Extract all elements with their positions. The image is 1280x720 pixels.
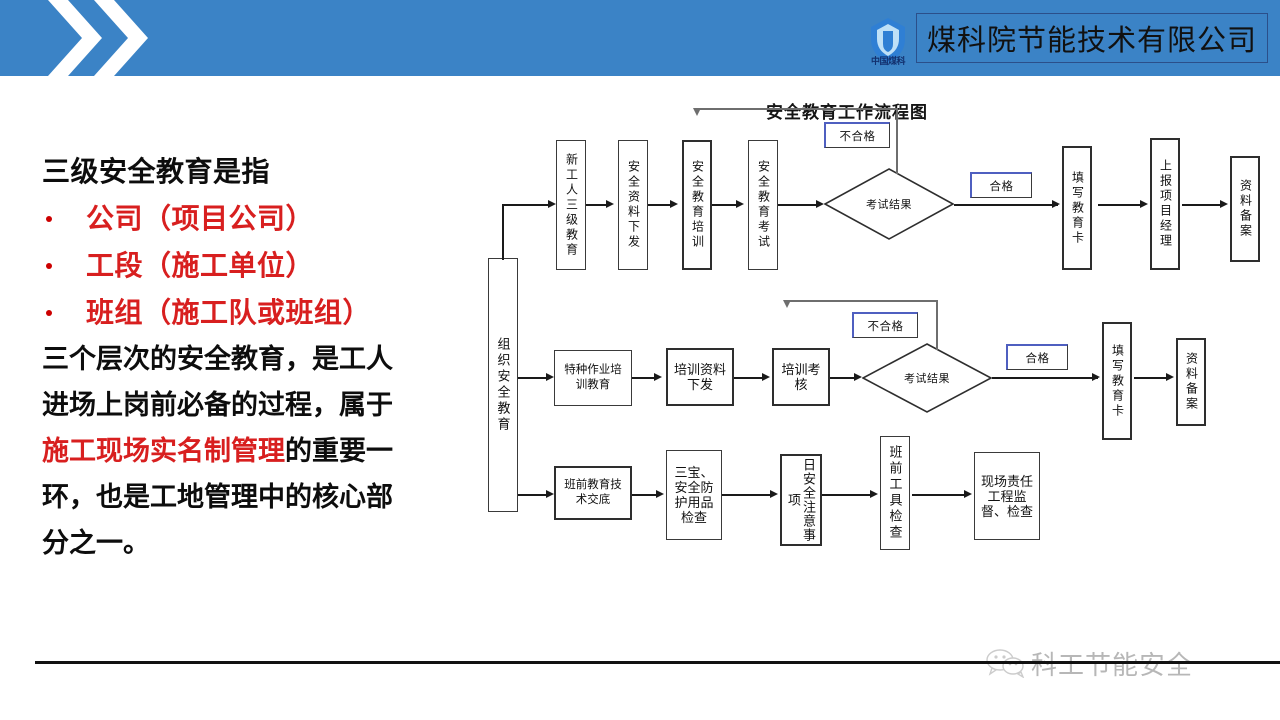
- connector-r1-pass: [954, 204, 1058, 206]
- arrow-r2-fail-down: [783, 300, 791, 308]
- connector-r1-5-6: [1098, 204, 1144, 206]
- list-item: 公司（项目公司）: [42, 195, 472, 242]
- arrow-r1-5-6: [1140, 200, 1148, 208]
- company-name: 煤科院节能技术有限公司: [927, 17, 1257, 59]
- flow-node-r3-5-label: 现场责任工程监督、检查: [981, 474, 1033, 519]
- connector-r3-3-4: [822, 494, 874, 496]
- flow-tag-r2-pass: 合格: [1006, 344, 1068, 370]
- flow-node-r2-3-label: 培训考核: [779, 362, 823, 392]
- arrow-r3-3-4: [870, 490, 878, 498]
- header-band: 中国煤科 煤科院节能技术有限公司: [0, 0, 1280, 76]
- bullet-label-1: 公司（项目公司）: [86, 195, 314, 242]
- flow-node-r1-2: 安全资料下发: [618, 140, 648, 270]
- flow-node-r3-4: 班前工具检查: [880, 436, 910, 550]
- arrow-root-to-row3: [546, 490, 554, 498]
- flow-decision-r2-label: 考试结果: [862, 343, 992, 413]
- connector-r1-6-7: [1182, 204, 1224, 206]
- flow-node-r3-1: 班前教育技术交底: [554, 466, 632, 520]
- connector-r1-fail-left: [696, 108, 898, 110]
- paragraph-text: 三个层次的安全教育，是工人: [42, 344, 393, 374]
- bullet-dot-icon: [46, 216, 52, 222]
- bullet-label-3: 班组（施工队或班组）: [86, 289, 371, 336]
- arrow-r2-4-5: [1166, 373, 1174, 381]
- flow-node-r1-4: 安全教育考试: [748, 140, 778, 270]
- flow-node-r1-3: 安全教育培训: [682, 140, 712, 270]
- connector-r2-fail-left: [786, 300, 938, 302]
- flow-node-r1-7: 资料备案: [1230, 156, 1260, 262]
- flow-decision-r1: 考试结果: [824, 168, 954, 240]
- arrow-r1-pass: [1052, 200, 1060, 208]
- paragraph-line-3: 施工现场实名制管理的重要一: [42, 428, 472, 474]
- arrow-root-to-row1: [548, 200, 556, 208]
- flow-tag-r1-fail: 不合格: [824, 122, 890, 148]
- flow-node-root: 组织安全教育: [488, 258, 518, 512]
- footer-divider: [35, 661, 1280, 664]
- paragraph-text: 分之一。: [42, 528, 150, 558]
- flow-node-r3-3-label: 日安全注意事项: [786, 456, 816, 544]
- flow-node-r1-6: 上报项目经理: [1150, 138, 1180, 270]
- list-item: 班组（施工队或班组）: [42, 289, 472, 336]
- left-heading: 三级安全教育是指: [42, 148, 472, 195]
- arrow-r3-1-2: [656, 490, 664, 498]
- arrow-r2-2-3: [762, 373, 770, 381]
- arrow-r1-3-4: [736, 200, 744, 208]
- arrow-root-to-row2: [546, 373, 554, 381]
- arrow-r1-6-7: [1220, 200, 1228, 208]
- logo-caption: 中国煤科: [856, 56, 920, 66]
- flow-node-r1-1: 新工人三级教育: [556, 140, 586, 270]
- flow-node-r2-1: 特种作业培训教育: [554, 350, 632, 406]
- flow-decision-r2: 考试结果: [862, 343, 992, 413]
- paragraph-highlight: 施工现场实名制管理: [42, 436, 285, 466]
- flow-node-r2-4: 填写教育卡: [1102, 322, 1132, 440]
- flow-tag-r1-pass: 合格: [970, 172, 1032, 198]
- paragraph-line-1: 三个层次的安全教育，是工人: [42, 336, 472, 382]
- bullet-dot-icon: [46, 310, 52, 316]
- arrow-r1-fail-down: [693, 108, 701, 116]
- connector-r1-fail-up: [896, 108, 898, 174]
- company-name-box: 煤科院节能技术有限公司: [916, 13, 1268, 63]
- paragraph-line-2: 进场上岗前必备的过程，属于: [42, 382, 472, 428]
- flow-node-r3-5: 现场责任工程监督、检查: [974, 452, 1040, 540]
- flow-node-r2-2: 培训资料下发: [666, 348, 734, 406]
- flow-node-r2-2-label: 培训资料下发: [673, 362, 727, 392]
- arrow-r1-4-decision: [816, 200, 824, 208]
- bullet-dot-icon: [46, 263, 52, 269]
- bullet-label-2: 工段（施工单位）: [86, 242, 314, 289]
- flow-node-r2-1-label: 特种作业培训教育: [562, 363, 624, 393]
- connector-r2-fail-up: [936, 300, 938, 350]
- connector-root-up: [502, 204, 504, 260]
- arrow-r1-1-2: [606, 200, 614, 208]
- flow-node-r3-1-label: 班前教育技术交底: [562, 478, 624, 508]
- flowchart-title: 安全教育工作流程图: [766, 98, 928, 123]
- arrow-r2-1-2: [654, 373, 662, 381]
- double-chevron-right-icon-2: [92, 0, 154, 82]
- flow-node-r3-2: 三宝、安全防护用品检查: [666, 450, 722, 540]
- list-item: 工段（施工单位）: [42, 242, 472, 289]
- paragraph-text: 的重要一: [285, 436, 393, 466]
- arrow-r3-4-5: [964, 490, 972, 498]
- left-text-panel: 三级安全教育是指 公司（项目公司） 工段（施工单位） 班组（施工队或班组） 三个…: [42, 148, 472, 566]
- arrow-r1-2-3: [670, 200, 678, 208]
- flowchart: 安全教育工作流程图 组织安全教育 新工人三级教育 安全资料下发 安全教育培训 安…: [466, 94, 1280, 564]
- connector-r1-4-decision: [778, 204, 820, 206]
- paragraph-text: 环，也是工地管理中的核心部: [42, 482, 393, 512]
- paragraph-line-4: 环，也是工地管理中的核心部: [42, 474, 472, 520]
- flow-node-r2-5: 资料备案: [1176, 338, 1206, 426]
- connector-root-to-row1: [502, 204, 552, 206]
- connector-r3-4-5: [912, 494, 968, 496]
- arrow-r2-pass: [1092, 373, 1100, 381]
- connector-r2-4-5: [1134, 377, 1170, 379]
- flow-node-r1-5: 填写教育卡: [1062, 146, 1092, 270]
- flow-decision-r1-label: 考试结果: [824, 168, 954, 240]
- slide-root: 中国煤科 煤科院节能技术有限公司 三级安全教育是指 公司（项目公司） 工段（施工…: [0, 0, 1280, 720]
- flow-tag-r2-fail: 不合格: [852, 312, 918, 338]
- paragraph-text: 进场上岗前必备的过程，属于: [42, 390, 393, 420]
- connector-r2-pass: [992, 377, 1098, 379]
- connector-r3-2-3: [722, 494, 774, 496]
- arrow-r2-3-decision: [854, 373, 862, 381]
- arrow-r3-2-3: [770, 490, 778, 498]
- flow-node-r2-3: 培训考核: [772, 348, 830, 406]
- paragraph-line-5: 分之一。: [42, 520, 472, 566]
- flow-node-r3-2-label: 三宝、安全防护用品检查: [673, 465, 715, 525]
- flow-node-r3-3: 日安全注意事项: [780, 454, 822, 546]
